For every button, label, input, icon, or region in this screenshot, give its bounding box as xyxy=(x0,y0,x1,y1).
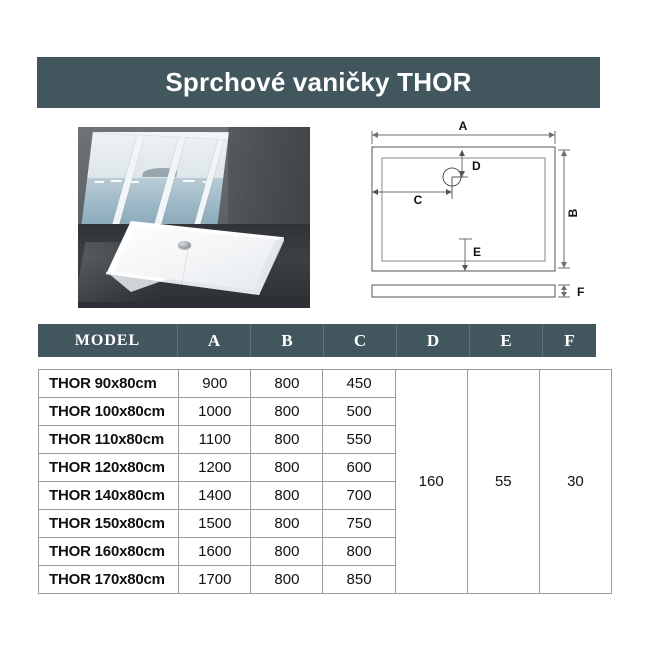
cell-b: 800 xyxy=(251,426,323,454)
cell-b: 800 xyxy=(251,510,323,538)
cell-c: 450 xyxy=(323,370,395,398)
tray-drain-icon xyxy=(178,241,191,249)
cell-a: 1100 xyxy=(179,426,251,454)
table-header: MODEL A B C D E F xyxy=(38,324,596,357)
photo-shower-tray xyxy=(106,221,284,295)
column-header-c: C xyxy=(324,324,397,357)
title-banner: Sprchové vaničky THOR xyxy=(37,57,600,108)
dim-arrow-d-top xyxy=(459,150,465,156)
cell-c: 550 xyxy=(323,426,395,454)
cell-model: THOR 140x80cm xyxy=(39,482,179,510)
column-header-model: MODEL xyxy=(38,324,178,357)
column-header-f: F xyxy=(543,324,596,357)
photo-boat xyxy=(95,181,104,183)
column-header-b: B xyxy=(251,324,324,357)
column-header-d: D xyxy=(397,324,470,357)
cell-c: 500 xyxy=(323,398,395,426)
column-header-e: E xyxy=(470,324,543,357)
cell-e-merged: 55 xyxy=(467,370,539,594)
cell-model: THOR 150x80cm xyxy=(39,510,179,538)
cell-model: THOR 100x80cm xyxy=(39,398,179,426)
table-row: THOR 90x80cm 900 800 450 160 55 30 xyxy=(39,370,612,398)
dim-arrow-b-top xyxy=(561,150,567,156)
page-title: Sprchové vaničky THOR xyxy=(165,67,471,98)
dim-arrow-f-bottom xyxy=(561,292,567,297)
cell-model: THOR 160x80cm xyxy=(39,538,179,566)
cell-model: THOR 120x80cm xyxy=(39,454,179,482)
dim-arrow-e-bottom xyxy=(462,265,468,271)
dim-arrow-c-right xyxy=(446,189,452,195)
technical-drawing-svg: A B C D E F xyxy=(355,120,605,310)
cell-b: 800 xyxy=(251,398,323,426)
cell-model: THOR 110x80cm xyxy=(39,426,179,454)
dim-arrow-b-bottom xyxy=(561,262,567,268)
cell-a: 1700 xyxy=(179,566,251,594)
cell-b: 800 xyxy=(251,482,323,510)
dim-label-f: F xyxy=(577,285,584,299)
cell-model: THOR 170x80cm xyxy=(39,566,179,594)
tray-outline-plan xyxy=(372,147,555,271)
cell-c: 800 xyxy=(323,538,395,566)
cell-c: 700 xyxy=(323,482,395,510)
cell-a: 1400 xyxy=(179,482,251,510)
cell-a: 1000 xyxy=(179,398,251,426)
cell-d-merged: 160 xyxy=(395,370,467,594)
photo-boat xyxy=(111,180,122,182)
cell-c: 850 xyxy=(323,566,395,594)
cell-model: THOR 90x80cm xyxy=(39,370,179,398)
cell-a: 1200 xyxy=(179,454,251,482)
technical-drawing: A B C D E F xyxy=(355,120,605,310)
cell-a: 1600 xyxy=(179,538,251,566)
specifications-table: THOR 90x80cm 900 800 450 160 55 30 THOR … xyxy=(38,369,612,594)
page-root: Sprchové vaničky THOR xyxy=(0,0,650,650)
dim-label-b: B xyxy=(566,208,580,217)
cell-a: 900 xyxy=(179,370,251,398)
cell-a: 1500 xyxy=(179,510,251,538)
product-photo xyxy=(78,127,310,308)
photo-boat xyxy=(131,181,139,183)
cell-b: 800 xyxy=(251,538,323,566)
cell-b: 800 xyxy=(251,454,323,482)
cell-b: 800 xyxy=(251,566,323,594)
photo-boat xyxy=(183,180,195,182)
dim-label-a: A xyxy=(459,120,468,133)
cell-c: 600 xyxy=(323,454,395,482)
column-header-a: A xyxy=(178,324,251,357)
dim-arrow-f-top xyxy=(561,285,567,290)
cell-c: 750 xyxy=(323,510,395,538)
cell-b: 800 xyxy=(251,370,323,398)
dim-label-e: E xyxy=(473,245,481,259)
tray-side-view xyxy=(372,285,555,297)
dim-arrow-a-right xyxy=(549,132,555,138)
dim-arrow-a-left xyxy=(372,132,378,138)
dim-label-d: D xyxy=(472,159,481,173)
cell-f-merged: 30 xyxy=(539,370,611,594)
dim-label-c: C xyxy=(414,193,423,207)
dim-arrow-c-left xyxy=(372,189,378,195)
